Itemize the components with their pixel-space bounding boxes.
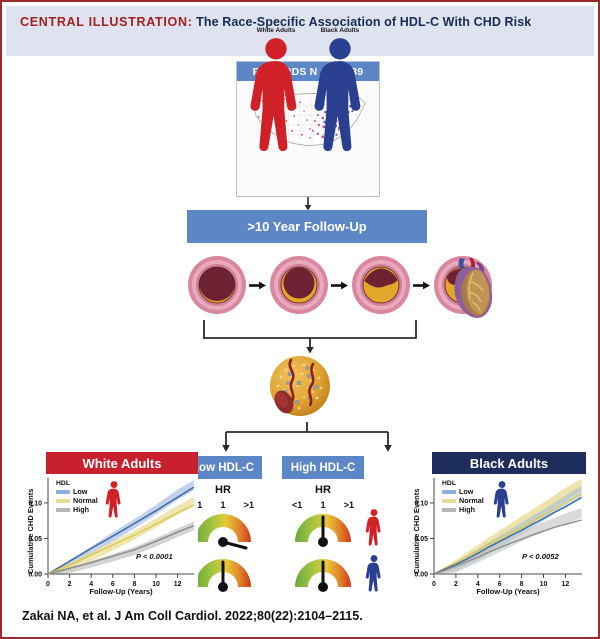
- legend-label-low: Low: [73, 488, 87, 496]
- human-body-icon: [309, 35, 371, 152]
- legend-swatch-low: [442, 490, 456, 494]
- regards-cohort-panel: REGARDS N = 30,239: [236, 61, 380, 197]
- arrow-right-icon: [413, 280, 431, 291]
- legend-label-normal: Normal: [73, 497, 98, 505]
- km-legend-title-white: HDL: [56, 480, 98, 487]
- legend-label-low: Low: [459, 488, 473, 496]
- figure-body: REGARDS N = 30,239: [6, 58, 594, 603]
- human-body-icon: [492, 480, 512, 518]
- human-body-icon: [364, 508, 384, 546]
- gauge-tick-gt1: >1: [344, 500, 354, 510]
- exposure-label-low: Low HDL-C: [192, 462, 254, 474]
- km-plot-white: 0.00 0.05 0.10 024 6810 12: [18, 474, 198, 600]
- arrow-right-icon: [249, 280, 267, 291]
- artery-cross-section-icon: [186, 254, 248, 316]
- hdl-particle-icon: [264, 350, 336, 422]
- gauge-tick-1: 1: [320, 500, 325, 510]
- km-legend-black: HDL Low Normal High: [442, 480, 484, 515]
- km-plot-black: 0.00 0.05 0.10 024 6810 12: [402, 474, 586, 600]
- exposure-box-high-hdl: High HDL-C: [282, 456, 364, 479]
- km-legend-item: Low: [56, 488, 98, 496]
- us-map-container: White Adults Black Adults: [241, 83, 375, 155]
- artery-cross-section-icon: [350, 254, 412, 316]
- gauge-icon: [191, 510, 255, 550]
- hr-label-high: HR: [282, 484, 364, 496]
- km-chart-white-adults: White Adults 0.00 0.05 0.: [18, 452, 198, 600]
- gauge-tick-lt1: <1: [292, 500, 302, 510]
- gauge-icon: [191, 555, 255, 595]
- connector-cohort-to-followup: [298, 197, 318, 211]
- km-ylabel-black: Cumulative CHD Events: [412, 489, 421, 574]
- exposure-label-high: High HDL-C: [291, 462, 356, 474]
- km-legend-item: Normal: [56, 497, 98, 505]
- followup-banner: >10 Year Follow-Up: [187, 210, 427, 243]
- gauge-scale-high: <1 1 >1: [292, 500, 354, 510]
- cohort-group-black: Black Adults: [309, 27, 371, 152]
- cohort-group-white: White Adults: [245, 27, 307, 152]
- legend-swatch-high: [56, 508, 70, 512]
- legend-swatch-normal: [442, 499, 456, 503]
- gauge-tick-1: 1: [220, 500, 225, 510]
- km-legend-item: High: [442, 506, 484, 514]
- legend-label-normal: Normal: [459, 497, 484, 505]
- km-pvalue-white: P < 0.0001: [136, 552, 173, 561]
- km-chart-black-adults: Black Adults 0.00 0.05 0.10: [402, 452, 586, 600]
- km-ylabel-white: Cumulative CHD Events: [26, 489, 35, 574]
- cohort-group-black-label: Black Adults: [309, 27, 371, 34]
- km-header-white: White Adults: [46, 452, 198, 474]
- central-illustration-figure: CENTRAL ILLUSTRATION: The Race-Specific …: [0, 0, 600, 639]
- followup-label: >10 Year Follow-Up: [247, 219, 366, 234]
- cohort-group-white-label: White Adults: [245, 27, 307, 34]
- connector-arteries-to-particle: [202, 320, 418, 354]
- km-pvalue-black: P < 0.0052: [522, 552, 559, 561]
- heart-anatomy-icon: [439, 256, 501, 320]
- artery-cross-section-icon: [268, 254, 330, 316]
- legend-swatch-high: [442, 508, 456, 512]
- gauge-scale-low: <1 1 >1: [192, 500, 254, 510]
- citation-bar: Zakai NA, et al. J Am Coll Cardiol. 2022…: [6, 599, 594, 633]
- human-body-icon: [364, 554, 384, 592]
- km-xlabel-white: Follow-Up (Years): [48, 587, 194, 596]
- gauge-tick-gt1: >1: [244, 500, 254, 510]
- citation-text: Zakai NA, et al. J Am Coll Cardiol. 2022…: [22, 609, 363, 623]
- gauge-icon: [291, 555, 355, 595]
- arrow-right-icon: [331, 280, 349, 291]
- human-body-icon: [245, 35, 307, 152]
- human-body-icon: [104, 480, 124, 518]
- connector-particle-to-exposures: [192, 422, 422, 456]
- artery-progression-row: [186, 254, 506, 322]
- km-title-black: Black Adults: [470, 456, 548, 471]
- km-legend-item: High: [56, 506, 98, 514]
- header-eyebrow: CENTRAL ILLUSTRATION:: [20, 15, 193, 29]
- km-title-white: White Adults: [83, 456, 162, 471]
- legend-swatch-normal: [56, 499, 70, 503]
- km-legend-item: Low: [442, 488, 484, 496]
- km-legend-title-black: HDL: [442, 480, 484, 487]
- legend-label-high: High: [73, 506, 89, 514]
- km-legend-item: Normal: [442, 497, 484, 505]
- legend-swatch-low: [56, 490, 70, 494]
- legend-label-high: High: [459, 506, 475, 514]
- km-legend-white: HDL Low Normal High: [56, 480, 98, 515]
- gauge-icon: [291, 510, 355, 550]
- km-header-black: Black Adults: [432, 452, 586, 474]
- km-xlabel-black: Follow-Up (Years): [434, 587, 582, 596]
